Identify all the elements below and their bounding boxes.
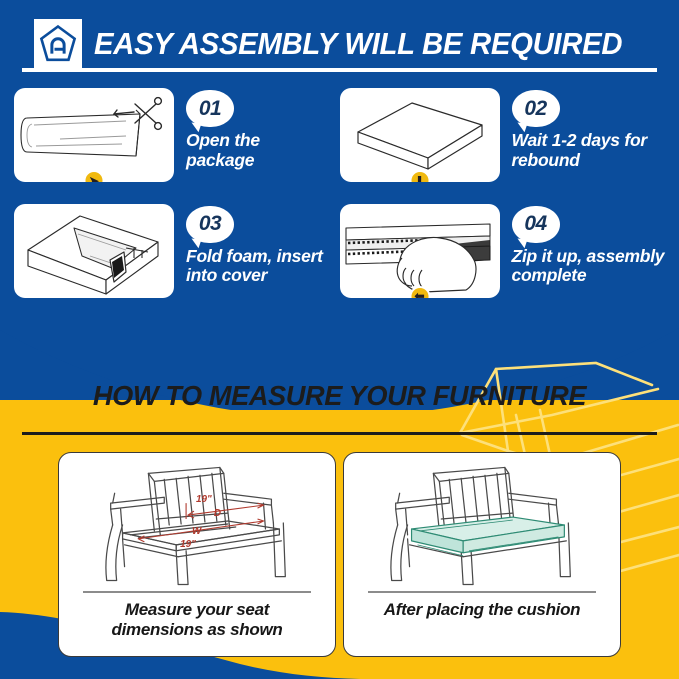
step-label-02: Wait 1-2 days forrebound: [512, 131, 666, 170]
width-letter: W: [192, 526, 203, 537]
page-title: EASY ASSEMBLY WILL BE REQUIRED: [94, 27, 622, 62]
step-label-04: Zip it up, assemblycomplete: [512, 247, 666, 286]
step-text-02: 02 Wait 1-2 days forrebound: [500, 88, 666, 170]
measure-section-title: HOW TO MEASURE YOUR FURNITURE: [10, 380, 669, 412]
flat-foam-slab-illustration: ⬇: [340, 88, 500, 182]
step-number-bubble-02: 02: [512, 90, 560, 127]
hand-zipping-cushion-illustration: ⬅: [340, 204, 500, 298]
step-number-02: 02: [524, 97, 546, 121]
step-number-04: 04: [524, 212, 546, 236]
measure-card-caption-cushion: After placing the cushion: [384, 600, 581, 620]
house-pentagon-logo-icon: [34, 19, 82, 69]
step-label-01: Open thepackage: [186, 131, 340, 170]
step-text-01: 01 Open thepackage: [174, 88, 340, 170]
package-with-scissors-illustration: ➤: [14, 88, 174, 182]
step-label-03: Fold foam, insertinto cover: [186, 247, 340, 286]
step-text-03: 03 Fold foam, insertinto cover: [174, 204, 340, 286]
measure-card-divider: [83, 591, 311, 593]
step-number-bubble-03: 03: [186, 206, 234, 243]
assembly-steps-grid: ➤ 01 Open thepackage ⬇ 02 Wait 1-: [0, 88, 679, 313]
measure-cards-row: 19" D W 19" Measure your seatdimensions …: [0, 452, 679, 657]
measure-card-cushion: After placing the cushion: [343, 452, 621, 657]
measure-card-divider: [368, 591, 596, 593]
step-card-03: 03 Fold foam, insertinto cover: [14, 204, 340, 314]
depth-value: 19": [196, 494, 212, 505]
step-card-01: ➤ 01 Open thepackage: [14, 88, 340, 198]
chair-with-dimension-callouts-illustration: 19" D W 19": [69, 459, 325, 587]
step-text-04: 04 Zip it up, assemblycomplete: [500, 204, 666, 286]
measure-card-dimensions: 19" D W 19" Measure your seatdimensions …: [58, 452, 336, 657]
step-number-bubble-01: 01: [186, 90, 234, 127]
step-number-03: 03: [199, 212, 221, 236]
width-value: 19": [180, 539, 196, 550]
header-divider: [22, 68, 657, 72]
step-card-02: ⬇ 02 Wait 1-2 days forrebound: [340, 88, 666, 198]
depth-letter: D: [214, 508, 221, 519]
measure-card-caption-dimensions: Measure your seatdimensions as shown: [112, 600, 283, 640]
step-number-01: 01: [199, 97, 221, 121]
step-number-bubble-04: 04: [512, 206, 560, 243]
step-card-04: ⬅ 04 Zip it up, assemblycomplete: [340, 204, 666, 314]
chair-with-cushion-illustration: [354, 459, 610, 587]
measure-section-divider: [22, 432, 657, 435]
foam-folding-into-cover-illustration: [14, 204, 174, 298]
